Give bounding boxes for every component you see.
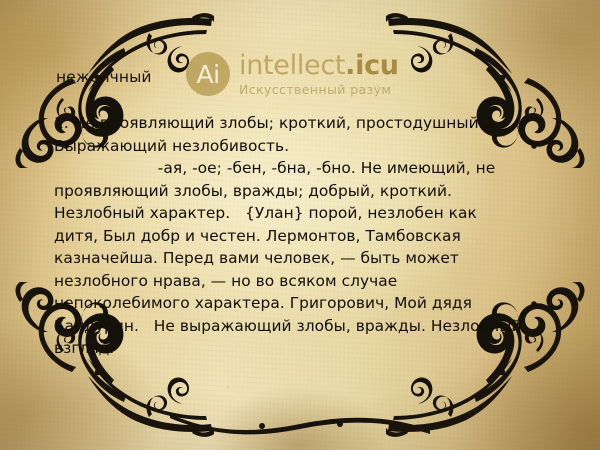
dictionary-card: Ai intellect.icu Искусственный разум неж… [0,0,600,450]
watermark-title-accent: .icu [345,50,399,81]
entry-body-text: 1. Не проявляющий злобы; кроткий, просто… [54,112,524,360]
ai-logo-label: Ai [196,62,219,87]
edge-flourish-icon-bottom-center [170,380,430,440]
watermark-title: intellect.icu [239,52,399,79]
ai-circle-logo-icon: Ai [186,52,230,96]
watermark: Ai intellect.icu Искусственный разум [186,52,399,97]
page-title: нежелчный [56,68,152,86]
watermark-title-main: intellect [239,50,345,81]
watermark-text: intellect.icu Искусственный разум [239,52,399,97]
watermark-subtitle: Искусственный разум [239,84,399,97]
